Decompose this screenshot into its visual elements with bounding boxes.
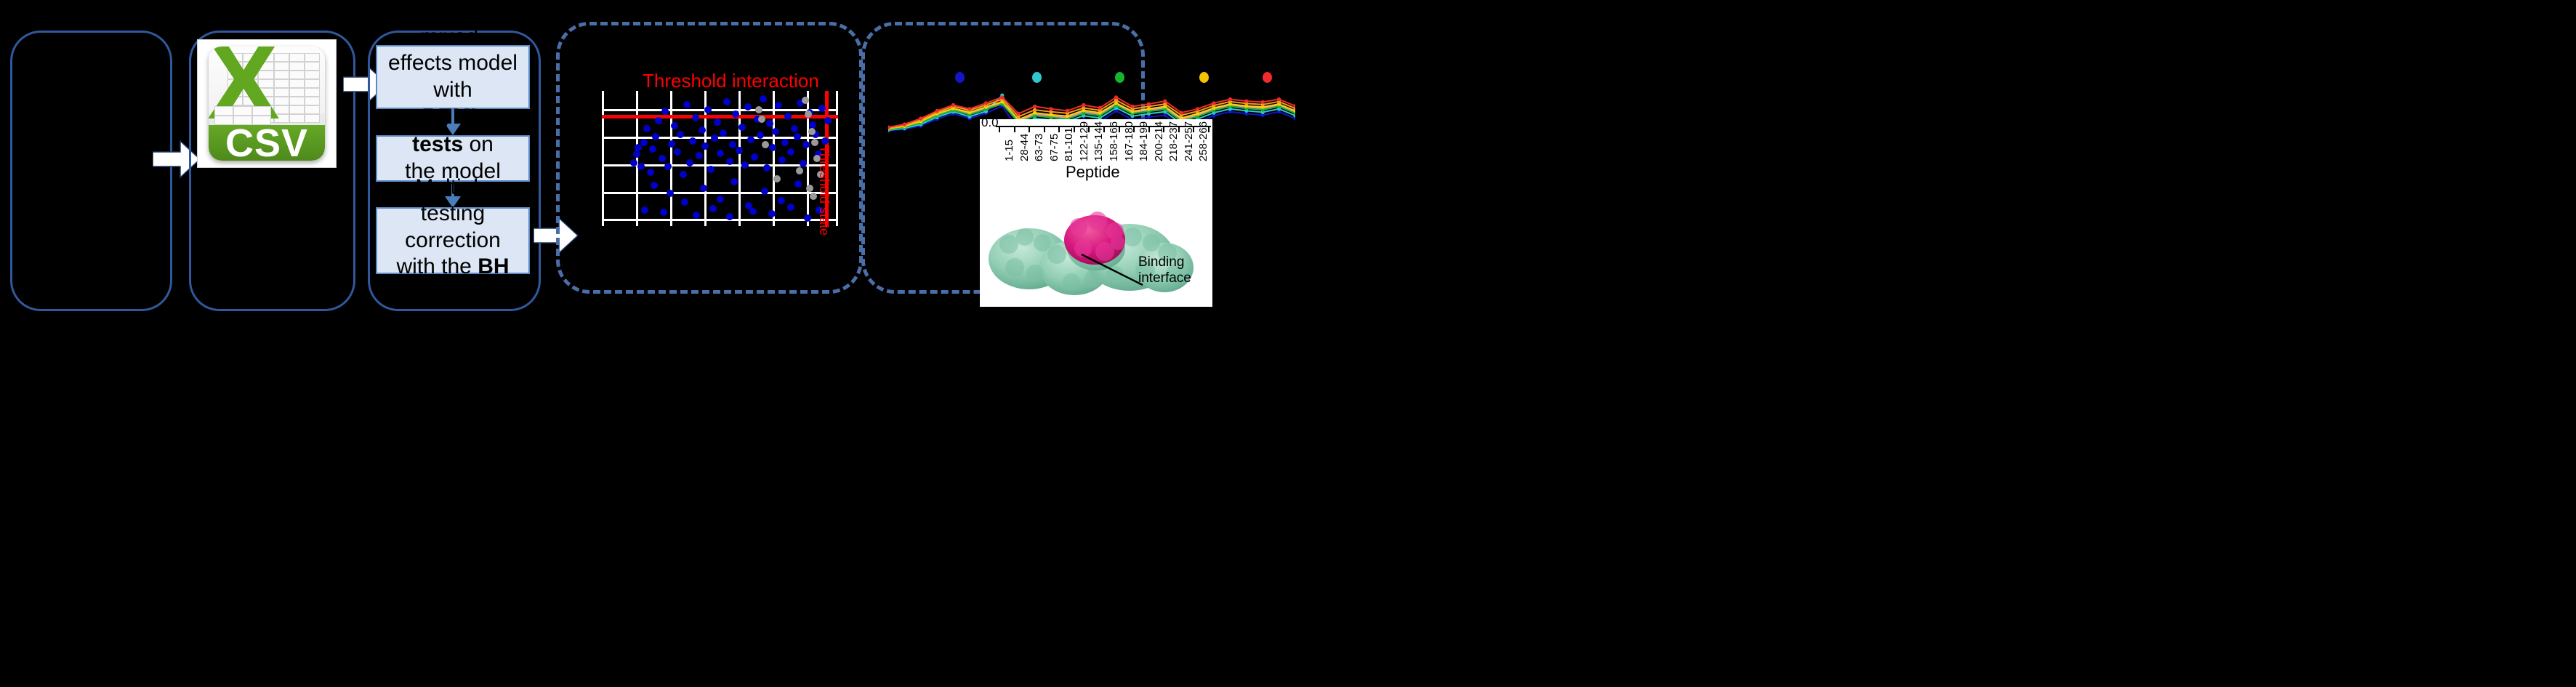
scatter-point (671, 122, 678, 129)
x-axis-tick (1119, 126, 1120, 132)
scatter-point (732, 111, 739, 118)
scatter-point (736, 147, 743, 154)
scatter-point (800, 160, 807, 167)
peptide-tick-label: 1-15 (1003, 140, 1015, 161)
scatter-point (699, 126, 706, 134)
scatter-point (773, 175, 781, 182)
scatter-point (714, 118, 721, 126)
scatter-point (667, 190, 674, 197)
scatter-point (763, 164, 770, 172)
scatter-point (762, 141, 769, 148)
scatter-point (802, 97, 809, 104)
binding-line-2: interface (1138, 270, 1191, 286)
scatter-point (758, 116, 765, 123)
scatter-point (637, 163, 645, 170)
line-marker (1196, 107, 1199, 111)
x-axis-tick (1044, 126, 1045, 132)
x-axis-tick (1133, 126, 1135, 132)
scatter-point (686, 159, 693, 166)
line-marker (1261, 100, 1265, 104)
line-marker (1033, 108, 1037, 112)
scatter-point (649, 145, 656, 153)
scatter-point (700, 185, 707, 192)
x-axis-tick (1178, 126, 1180, 132)
line-marker (1147, 116, 1151, 119)
scatter-point (809, 121, 816, 129)
line-marker (1277, 97, 1281, 101)
scatter-point (757, 132, 764, 139)
scatter-point (729, 141, 736, 148)
line-marker (1244, 100, 1248, 103)
peptide-tick-label: 67-75 (1048, 134, 1060, 161)
scatter-point (633, 150, 640, 158)
fit-model-box: Fit a linear mixed-effects model withREM… (376, 45, 530, 109)
csv-image-frame: X CSV (198, 40, 336, 167)
volcano-title: Threshold interaction (643, 70, 819, 92)
scatter-point (668, 140, 675, 148)
scatter-point (802, 141, 810, 148)
line-marker (984, 101, 988, 105)
line-marker (1163, 100, 1167, 103)
scatter-point (781, 139, 789, 146)
line-marker (1033, 105, 1037, 108)
scatter-point (794, 133, 801, 140)
scatter-point (760, 95, 767, 103)
scatter-point (630, 159, 637, 166)
scatter-point (704, 106, 712, 113)
line-marker (1066, 109, 1069, 113)
x-axis-tick (1193, 126, 1194, 132)
scatter-point (726, 158, 733, 165)
excel-x-glyph: X (211, 49, 275, 113)
peptide-axis-title: Peptide (1066, 163, 1120, 182)
results-inset-figure: 0.0 1-1528-4463-7367-7581-101122-129135-… (980, 119, 1212, 307)
legend-dot-blue (955, 72, 965, 83)
scatter-point (709, 205, 717, 212)
x-axis-tick (1074, 126, 1075, 132)
line-marker (1212, 101, 1215, 105)
line-marker (1147, 103, 1151, 106)
line-marker (967, 107, 971, 111)
scatter-point (689, 137, 696, 145)
line-marker (1228, 97, 1232, 101)
scatter-point (651, 182, 658, 189)
scatter-point (692, 114, 699, 121)
scatter-point (701, 142, 709, 150)
x-axis-tick (999, 126, 1000, 132)
multiple-testing-box: Multiple testingcorrectionwith the BH pr… (376, 207, 530, 274)
x-axis-tick (1029, 126, 1030, 132)
scatter-point (821, 137, 829, 145)
line-marker (1130, 105, 1134, 108)
scatter-point (824, 117, 832, 124)
scatter-point (749, 208, 757, 215)
scatter-point (772, 128, 779, 135)
scatter-points-group (602, 91, 838, 226)
scatter-point (711, 134, 718, 142)
line-marker (1082, 103, 1085, 107)
x-axis-tick (1148, 126, 1150, 132)
binding-line-1: Binding (1138, 254, 1184, 270)
scatter-point (775, 102, 782, 109)
scatter-point (738, 124, 746, 131)
scatter-point (804, 214, 811, 222)
threshold-state-label: Threshold state (816, 145, 832, 236)
scatter-point (778, 197, 785, 204)
x-axis-tick (1208, 126, 1209, 132)
csv-file-icon: X CSV (209, 47, 325, 161)
scatter-point (643, 125, 651, 132)
scatter-point (707, 166, 715, 173)
peptide-tick-label: 63-73 (1033, 134, 1045, 161)
scatter-point (680, 171, 687, 178)
scatter-point (787, 148, 794, 156)
scatter-point (768, 210, 776, 217)
scatter-point (683, 101, 691, 108)
legend-dot-yellow (1199, 72, 1209, 83)
scatter-point (726, 213, 733, 220)
figure-canvas: X CSV Fit a linear mixed-effects model w… (0, 0, 2576, 687)
x-axis-tick (1014, 126, 1015, 132)
scatter-point (818, 105, 826, 112)
scatter-point (805, 111, 812, 118)
line-marker (1049, 107, 1052, 111)
binding-interface-annotation: Binding interface (1138, 254, 1191, 286)
csv-caption: CSV (209, 125, 325, 161)
peptide-tick-label: 81-101 (1063, 127, 1075, 161)
scatter-point (755, 106, 762, 113)
line-marker (1000, 95, 1004, 99)
scatter-point (641, 206, 648, 214)
line-marker (951, 103, 955, 107)
scatter-point (681, 198, 688, 206)
multiple-testing-text: Multiple testingcorrectionwith the BH pr… (383, 174, 523, 308)
scatter-point (747, 136, 754, 143)
line-marker (1098, 106, 1102, 110)
scatter-point (784, 113, 792, 120)
volcano-plot-area (602, 91, 838, 226)
x-axis-tick (1163, 126, 1164, 132)
line-marker (919, 116, 922, 120)
legend-dot-cyan (1032, 72, 1042, 83)
x-axis-tick (1058, 126, 1060, 132)
scatter-point (778, 156, 786, 164)
scatter-point (717, 196, 724, 203)
scatter-point (808, 128, 816, 135)
scatter-point (730, 178, 738, 185)
line-marker (1114, 95, 1118, 99)
line-marker (903, 122, 906, 126)
scatter-point (655, 117, 662, 124)
scatter-point (769, 144, 776, 151)
scatter-point (640, 139, 648, 146)
peptide-tick-label: 28-44 (1018, 134, 1031, 161)
scatter-point (720, 129, 727, 137)
scatter-point (723, 98, 730, 105)
scatter-point (766, 120, 773, 127)
scatter-point (674, 148, 681, 156)
scatter-point (761, 188, 768, 195)
scatter-point (744, 103, 752, 111)
scatter-point (659, 155, 666, 162)
line-marker (1017, 112, 1021, 116)
scatter-point (791, 125, 798, 132)
scatter-point (806, 185, 813, 192)
legend-dot-green (1115, 72, 1124, 83)
input-panel (10, 31, 172, 311)
scatter-point (794, 180, 802, 188)
line-marker (1163, 113, 1167, 117)
x-axis-tick (1103, 126, 1105, 132)
scatter-point (693, 212, 700, 219)
line-marker (1180, 111, 1183, 115)
scatter-point (652, 133, 659, 140)
scatter-point (787, 204, 794, 211)
scatter-point (664, 163, 672, 170)
scatter-point (717, 150, 724, 157)
scatter-point (751, 153, 758, 161)
scatter-point (660, 209, 667, 216)
legend-dot-red (1263, 72, 1272, 83)
line-marker (935, 109, 939, 113)
scatter-point (647, 169, 654, 176)
scatter-point (741, 161, 749, 169)
scatter-point (796, 167, 803, 174)
scatter-point (661, 108, 669, 115)
scatter-point (677, 131, 684, 138)
scatter-point (696, 152, 703, 159)
x-axis-tick (1088, 126, 1090, 132)
